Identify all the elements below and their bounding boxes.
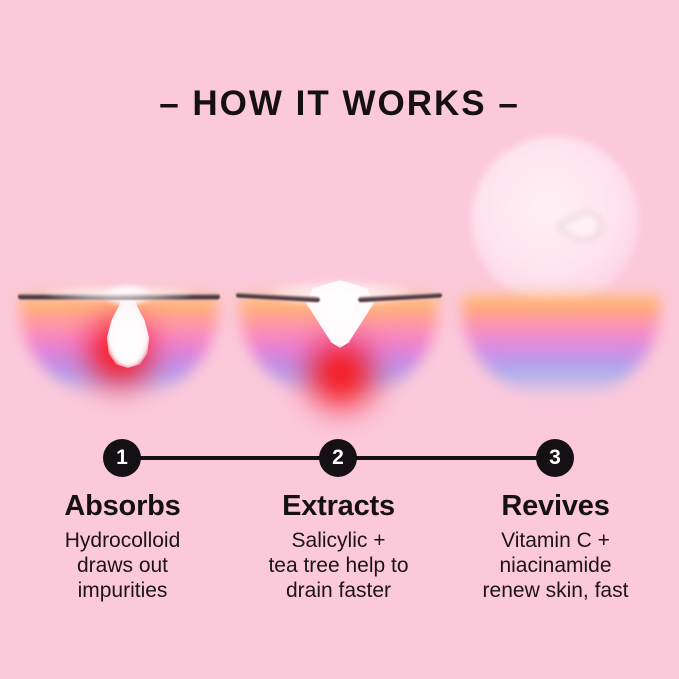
illustration-stage [0,130,679,415]
used-patch-icon [471,136,639,304]
captured-impurity-icon [556,209,608,243]
how-it-works-infographic: – HOW IT WORKS – [0,0,679,679]
captured-impurity-outline-icon [556,209,608,243]
step-body-2-line-2: tea tree help to [230,553,447,578]
illustration-step-3 [448,130,674,415]
patch-gloss-icon [46,286,192,300]
step-body-3-line-3: renew skin, fast [447,578,664,603]
step-caption-2: Extracts Salicylic + tea tree help to dr… [230,489,447,603]
step-number-3: 3 [536,439,574,477]
step-body-3-line-2: niacinamide [447,553,664,578]
step-number-2: 2 [319,439,357,477]
illustration-step-2 [226,130,452,415]
step-body-1-line-2: draws out [14,553,231,578]
step-caption-1: Absorbs Hydrocolloid draws out impuritie… [14,489,231,603]
step-body-1: Hydrocolloid draws out impurities [14,528,231,603]
skin-cross-section-icon [462,296,660,400]
step-body-3-line-1: Vitamin C + [447,528,664,553]
step-body-2-line-3: drain faster [230,578,447,603]
step-caption-3: Revives Vitamin C + niacinamide renew sk… [447,489,664,603]
step-title-2: Extracts [230,489,447,523]
page-title: – HOW IT WORKS – [0,84,679,124]
step-body-2-line-1: Salicylic + [230,528,447,553]
step-captions: Absorbs Hydrocolloid draws out impuritie… [0,489,679,619]
step-body-1-line-3: impurities [14,578,231,603]
step-body-3: Vitamin C + niacinamide renew skin, fast [447,528,664,603]
step-body-1-line-1: Hydrocolloid [14,528,231,553]
step-title-3: Revives [447,489,664,523]
step-number-1: 1 [103,439,141,477]
step-body-2: Salicylic + tea tree help to drain faste… [230,528,447,603]
step-title-1: Absorbs [14,489,231,523]
illustration-step-1 [6,130,232,415]
